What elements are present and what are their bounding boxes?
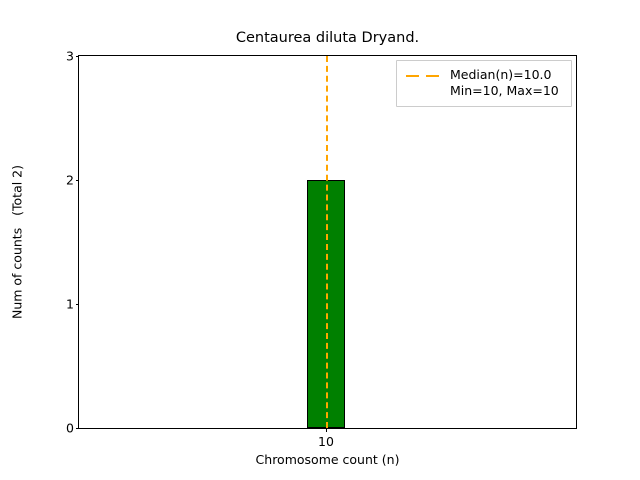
legend-label-median: Median(n)=10.0 [450,67,559,83]
x-axis-label: Chromosome count (n) [78,452,577,467]
legend-entry-text: Median(n)=10.0 Min=10, Max=10 [450,67,559,99]
y-tick-label-3: 3 [66,49,74,64]
y-axis-label: Num of counts (Total 2) [10,165,25,319]
legend-dashed-line-icon [405,68,441,84]
y-tick-label-1: 1 [66,297,74,312]
chart-title: Centaurea diluta Dryand. [78,30,577,46]
y-axis-label-wrap: Num of counts (Total 2) [0,55,34,429]
y-tick-mark-3 [76,56,80,57]
chart-figure: Centaurea diluta Dryand. 0 1 2 3 10 [0,0,640,480]
median-line [326,56,328,428]
x-tick-label-10: 10 [318,434,334,449]
y-tick-mark-1 [76,304,80,305]
legend-label-range: Min=10, Max=10 [450,83,559,99]
y-tick-label-0: 0 [66,421,74,436]
plot-area: 0 1 2 3 10 [78,55,577,429]
y-tick-mark-2 [76,180,80,181]
y-tick-label-2: 2 [66,172,74,187]
y-tick-mark-0 [76,428,80,429]
legend: Median(n)=10.0 Min=10, Max=10 [396,60,572,107]
x-tick-mark-10 [326,428,327,432]
